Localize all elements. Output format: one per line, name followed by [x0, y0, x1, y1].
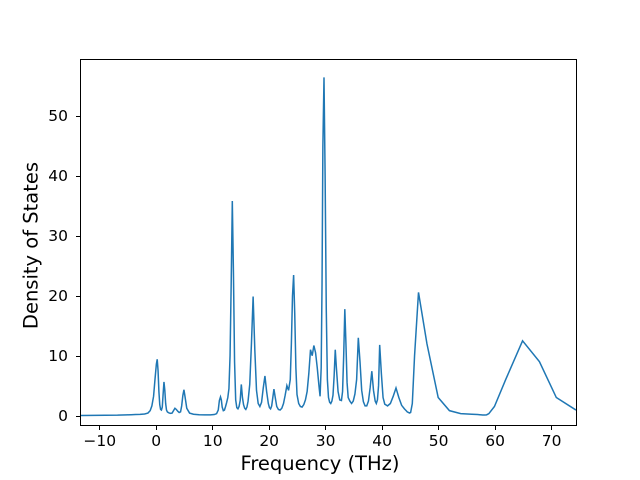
x-tick-label: 60	[460, 432, 530, 450]
x-tick-label: 70	[517, 432, 587, 450]
phonon-dos-figure: 01020304050 −10010203040506070 Frequency…	[0, 0, 640, 480]
y-axis-label: Density of States	[20, 76, 43, 416]
dos-curve	[81, 60, 576, 425]
x-axis-label: Frequency (THz)	[0, 452, 640, 475]
x-tick-mark	[382, 426, 383, 430]
x-tick-label: −10	[65, 432, 135, 450]
x-tick-mark	[325, 426, 326, 430]
x-tick-label: 30	[291, 432, 361, 450]
x-tick-mark	[438, 426, 439, 430]
x-tick-mark	[156, 426, 157, 430]
x-tick-label: 0	[121, 432, 191, 450]
x-tick-label: 40	[347, 432, 417, 450]
x-tick-mark	[495, 426, 496, 430]
x-tick-mark	[269, 426, 270, 430]
x-tick-mark	[212, 426, 213, 430]
plot-area	[80, 59, 577, 426]
x-tick-label: 10	[178, 432, 248, 450]
x-tick-label: 50	[404, 432, 474, 450]
x-tick-mark	[551, 426, 552, 430]
x-tick-mark	[99, 426, 100, 430]
x-tick-label: 20	[234, 432, 304, 450]
